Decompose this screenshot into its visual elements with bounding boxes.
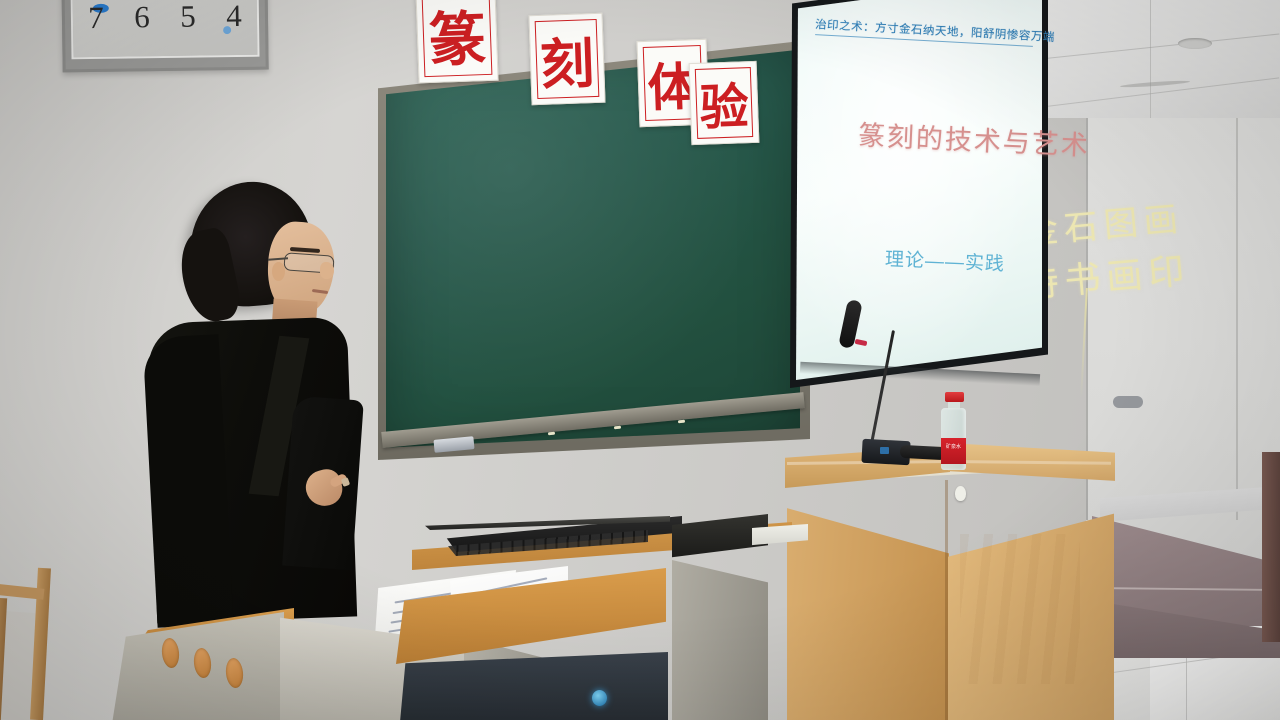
wall-seam-secondary	[1236, 90, 1238, 520]
chalk-char: 画	[1141, 192, 1179, 244]
display-face: 7 6 5 4	[70, 0, 259, 59]
microphone-led-icon[interactable]	[880, 447, 889, 454]
presenter-nose	[320, 262, 334, 279]
chalk-char: 画	[1104, 246, 1144, 301]
power-led-icon[interactable]	[592, 690, 607, 706]
display-number-1: 6	[134, 0, 150, 35]
ceiling-panel-line	[1150, 0, 1151, 118]
microphone-side-unit	[900, 445, 947, 460]
ceiling-vent-icon	[1178, 38, 1212, 49]
console-dark-panel	[400, 652, 668, 720]
red-character-card-4: 验	[689, 61, 760, 145]
chalk-char: 书	[1062, 250, 1102, 305]
card-border	[695, 67, 753, 139]
chalk-char: 图	[1102, 195, 1140, 247]
lectern-body-left	[787, 482, 949, 720]
bottle-label-text: 矿泉水	[941, 443, 966, 450]
console-far-side	[672, 560, 768, 720]
display-number-0: 7	[88, 0, 104, 36]
wall-framed-display: 7 6 5 4	[61, 0, 268, 72]
wall-fixture-icon	[1113, 396, 1143, 408]
lectern-keyhole-icon	[955, 486, 966, 501]
display-number-3: 4	[226, 0, 242, 34]
ceiling-panels	[1040, 0, 1280, 118]
red-character-card-1: 篆	[415, 0, 498, 83]
lectern-corner-edge	[945, 480, 948, 720]
chalk-char: 石	[1062, 199, 1100, 251]
chalk-char: 印	[1146, 242, 1186, 297]
display-number-2: 5	[180, 0, 196, 35]
bottle-cap	[945, 392, 964, 402]
display-numbers: 7 6 5 4	[73, 0, 257, 36]
lectern-wood-grain	[960, 534, 1080, 684]
card-border	[535, 19, 600, 99]
classroom-photo: 7 6 5 4 书法 金 石 图 画 诗 书 画 印	[0, 0, 1280, 720]
bottle-label	[941, 438, 966, 464]
lectern-top-right	[948, 443, 1115, 487]
projector-screen-surface	[796, 0, 1042, 380]
card-border	[422, 0, 493, 77]
door-frame	[1262, 452, 1280, 642]
red-character-card-2: 刻	[528, 13, 605, 106]
